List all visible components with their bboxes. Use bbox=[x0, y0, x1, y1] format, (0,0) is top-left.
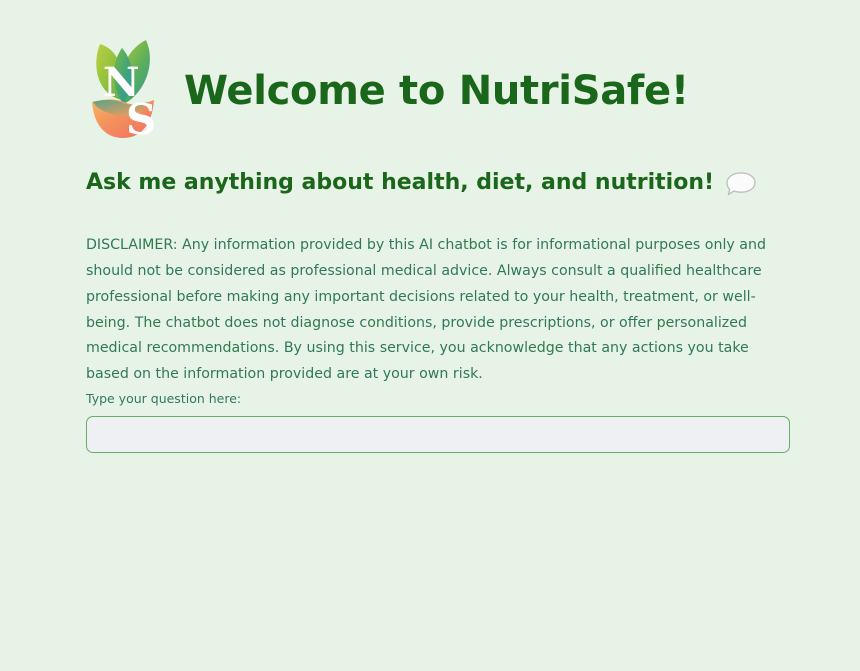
question-input[interactable] bbox=[86, 416, 790, 453]
subtitle-text: Ask me anything about health, diet, and … bbox=[86, 170, 714, 196]
app-root: N S Welcome to NutriSafe! Ask me anythin… bbox=[0, 0, 860, 671]
svg-text:S: S bbox=[126, 95, 156, 144]
subtitle-row: Ask me anything about health, diet, and … bbox=[86, 168, 757, 198]
nutrisafe-logo: N S bbox=[86, 34, 162, 144]
page-title: Welcome to NutriSafe! bbox=[184, 71, 689, 111]
question-input-label: Type your question here: bbox=[86, 391, 241, 407]
disclaimer-text: DISCLAIMER: Any information provided by … bbox=[86, 233, 792, 388]
app-header: N S Welcome to NutriSafe! bbox=[86, 34, 689, 144]
speech-balloon-icon bbox=[725, 170, 757, 198]
